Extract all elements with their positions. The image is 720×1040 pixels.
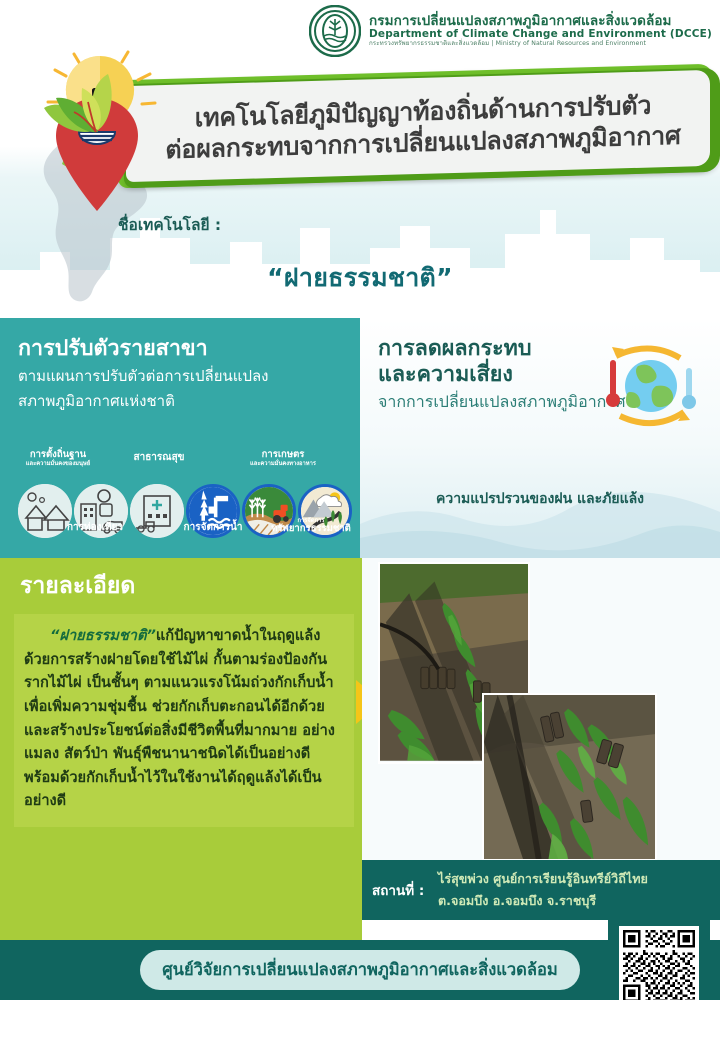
photo-gallery: [362, 558, 720, 860]
footer-organization-label: ศูนย์วิจัยการเปลี่ยนแปลงสภาพภูมิอากาศและ…: [162, 957, 558, 983]
details-quoted-term: “ฝายธรรมชาติ”: [50, 627, 156, 644]
header-band: กรมการเปลี่ยนแปลงสภาพภูมิอากาศและสิ่งแวด…: [0, 0, 720, 318]
sector-label-water-management: การจัดการน้ำ: [168, 522, 258, 533]
location-line-1: ไร่สุขพ่วง ศูนย์การเรียนรู้อินทรีย์วิถีไ…: [438, 868, 714, 890]
location-label: สถานที่ :: [372, 879, 424, 901]
org-ministry: กระทรวงทรัพยากรธรรมชาติและสิ่งแวดล้อม | …: [369, 41, 712, 48]
sector-label-settlement: การตั้งถิ่นฐาน และความมั่นคงของมนุษย์: [6, 450, 110, 467]
dcce-logo: กรมการเปลี่ยนแปลงสภาพภูมิอากาศและสิ่งแวด…: [309, 5, 712, 57]
qr-code-icon[interactable]: [619, 926, 699, 1006]
technology-label: ชื่อเทคโนโลยี :: [118, 212, 221, 237]
details-panel: รายละเอียด “ฝายธรรมชาติ”แก้ปัญหาขาดน้ำใน…: [0, 558, 362, 940]
location-bar: สถานที่ : ไร่สุขพ่วง ศูนย์การเรียนรู้อิน…: [362, 860, 720, 920]
sector-icon-row: การตั้งถิ่นฐาน และความมั่นคงของมนุษย์: [0, 448, 360, 558]
location-value: ไร่สุขพ่วง ศูนย์การเรียนรู้อินทรีย์วิถีไ…: [438, 868, 714, 911]
footer-organization-pill: ศูนย์วิจัยการเปลี่ยนแปลงสภาพภูมิอากาศและ…: [140, 950, 580, 990]
technology-name: “ฝายธรรมชาติ”: [0, 258, 720, 298]
globe-thermometer-icon: [598, 342, 704, 430]
bamboo-check-dam-photo-2[interactable]: [482, 693, 657, 861]
dcce-emblem-icon: [309, 5, 361, 57]
location-line-2: ต.จอมบึง อ.จอมบึง จ.ราชบุรี: [438, 890, 714, 912]
sector-label-natural-resources: การจัดการ ทรัพยากรธรรมชาติ: [262, 518, 360, 535]
bottom-strip: [0, 1000, 720, 1040]
sector-label-tourism: การท่องเที่ยว: [50, 522, 140, 533]
org-name-th: กรมการเปลี่ยนแปลงสภาพภูมิอากาศและสิ่งแวด…: [369, 14, 712, 29]
details-body-text: แก้ปัญหาขาดน้ำในฤดูแล้ง ด้วยการสร้างฝายโ…: [24, 627, 335, 809]
org-name-en: Department of Climate Change and Environ…: [369, 29, 712, 41]
details-heading: รายละเอียด: [20, 568, 135, 604]
page-title: เทคโนโลยีภูมิปัญญาท้องถิ่นด้านการปรับตัว…: [140, 72, 706, 182]
mitigation-risk-text: ความแปรปรวนของฝน และภัยแล้ง: [360, 488, 720, 510]
adaptation-heading: การปรับตัวรายสาขา: [18, 336, 346, 362]
poster-root: กรมการเปลี่ยนแปลงสภาพภูมิอากาศและสิ่งแวด…: [0, 0, 720, 1040]
sector-label-agriculture: การเกษตร และความมั่นคงทางอาหาร: [228, 450, 338, 467]
details-body: “ฝายธรรมชาติ”แก้ปัญหาขาดน้ำในฤดูแล้ง ด้ว…: [14, 614, 354, 827]
lightbulb-leaf-pin-icon: [22, 46, 172, 221]
adaptation-subtitle-2: สภาพภูมิอากาศแห่งชาติ: [18, 391, 346, 412]
sector-label-public-health: สาธารณสุข: [114, 452, 204, 463]
adaptation-subtitle-1: ตามแผนการปรับตัวต่อการเปลี่ยนแปลง: [18, 366, 346, 387]
mitigation-panel: การลดผลกระทบ และความเสี่ยง จากการเปลี่ยน…: [360, 318, 720, 558]
